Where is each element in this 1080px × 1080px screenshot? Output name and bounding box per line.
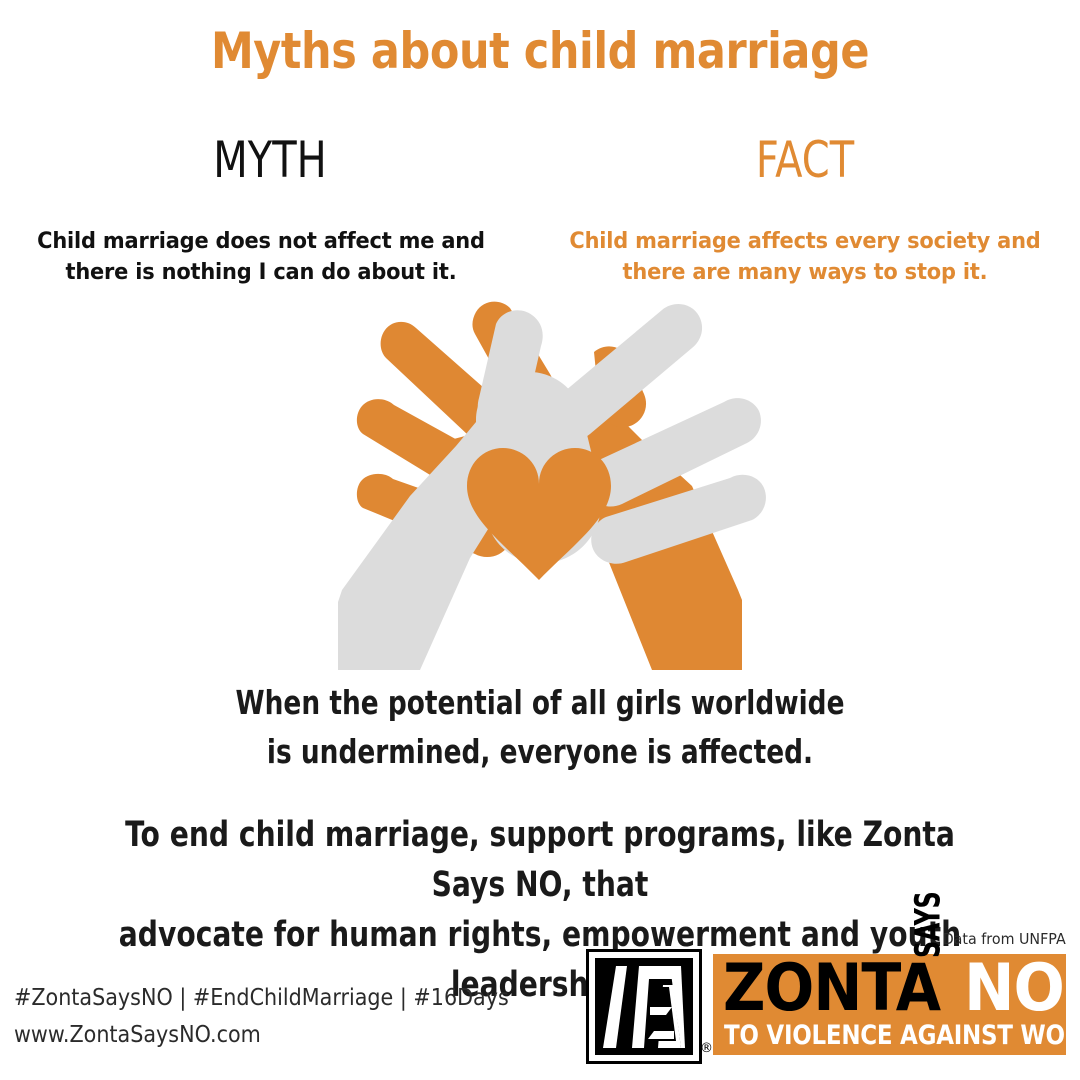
infographic-canvas: Myths about child marriage MYTH Child ma… [0, 0, 1080, 1080]
myth-body-text: Child marriage does not affect me and th… [24, 226, 498, 288]
logo-word-zonta: ZONTA [723, 955, 940, 1023]
footer-hashtags-and-url[interactable]: #ZontaSaysNO | #EndChildMarriage | #16Da… [14, 980, 509, 1054]
zonta-international-emblem [586, 949, 706, 1067]
zonta-says-no-top-row: ZONTA SAYS NO [713, 954, 1066, 1023]
fact-heading: FACT [685, 131, 925, 189]
logo-tagline: TO VIOLENCE AGAINST WOMEN [724, 1021, 1033, 1050]
logo-word-says: SAYS [909, 896, 947, 958]
myth-heading: MYTH [150, 131, 390, 189]
fact-body-text: Child marriage affects every society and… [563, 226, 1047, 288]
page-title: Myths about child marriage [76, 22, 1005, 80]
registered-trademark-mark: ® [700, 1042, 713, 1055]
mid-statement-text: When the potential of all girls worldwid… [108, 678, 972, 776]
logo-word-no: NO [964, 955, 1064, 1023]
data-source-credit: Data from UNFPA [943, 930, 1066, 948]
zonta-says-no-logo: ZONTA SAYS NO TO VIOLENCE AGAINST WOMEN [713, 954, 1066, 1055]
hands-heart-illustration [300, 290, 780, 670]
